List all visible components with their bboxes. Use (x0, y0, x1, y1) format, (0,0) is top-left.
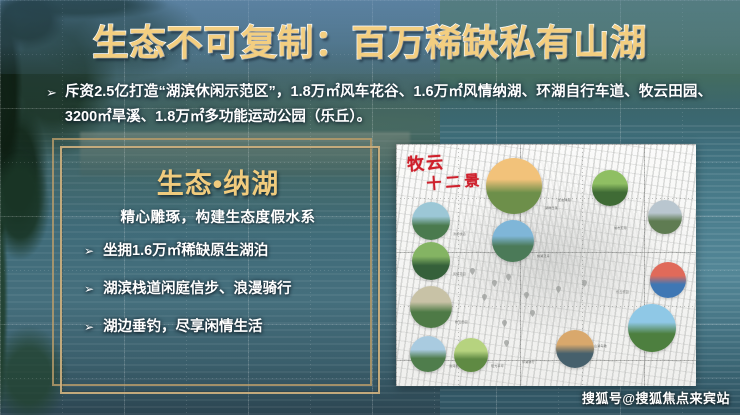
arrow-bullet-icon: ➢ (84, 280, 94, 299)
spot-waterway[interactable] (412, 202, 450, 240)
map-spot-label: 牧云田园 (455, 320, 468, 324)
map-spot-label: 纳湖泛舟 (537, 254, 550, 258)
panel-bullet-text: 湖边垂钓，尽享闲情生活 (103, 318, 263, 337)
panel-bullet-item: ➢坐拥1.6万㎡稀缺原生湖泊 (84, 242, 362, 261)
panel-bullet-list: ➢坐拥1.6万㎡稀缺原生湖泊➢湖滨栈道闲庭信步、浪漫骑行➢湖边垂钓，尽享闲情生活 (84, 242, 362, 356)
map-spot-label: 阳光草坪 (491, 364, 504, 368)
slide-root: 生态不可复制：百万稀缺私有山湖 ➢ 斥资2.5亿打造“湖滨休闲示范区”，1.8万… (0, 0, 740, 415)
site-map-card[interactable]: 牧云 十二景 湖畔日落生态绿廊滨水栈道城市天际纳湖泛舟风情花园乐丘乐园牧云田园山… (396, 144, 696, 386)
watermark: 搜狐号@搜狐焦点来宾站 (582, 388, 730, 407)
header-subtitle: ➢ 斥资2.5亿打造“湖滨休闲示范区”，1.8万㎡风车花谷、1.6万㎡风情纳湖、… (46, 80, 712, 130)
spot-garden[interactable] (412, 242, 450, 280)
panel-heading: 生态•纳湖 (62, 162, 374, 201)
map-spot-label: 滨水栈道 (453, 232, 466, 236)
arrow-bullet-icon: ➢ (84, 318, 94, 337)
spot-sunset-lake[interactable] (486, 158, 542, 214)
page-title: 生态不可复制：百万稀缺私有山湖 (0, 14, 740, 66)
panel-subheading: 精心雕琢，构建生态度假水系 (62, 206, 374, 227)
panel-bullet-text: 湖滨栈道闲庭信步、浪漫骑行 (103, 280, 292, 299)
map-spot-label: 乐丘乐园 (616, 290, 629, 294)
spot-lake-boat[interactable] (492, 220, 534, 262)
eco-lake-panel: 生态•纳湖 精心雕琢，构建生态度假水系 ➢坐拥1.6万㎡稀缺原生湖泊➢湖滨栈道闲… (62, 148, 374, 388)
map-spot-label: 湖畔日落 (545, 206, 558, 210)
spot-boardwalk[interactable] (556, 330, 594, 368)
spot-riverside[interactable] (410, 336, 446, 372)
calligraphy-line-1: 牧云 (406, 153, 445, 176)
map-spot-label: 环湖骑行 (522, 360, 535, 364)
spot-playground[interactable] (650, 262, 686, 298)
spot-village-path[interactable] (410, 286, 452, 328)
arrow-bullet-icon: ➢ (46, 80, 57, 105)
panel-bullet-item: ➢湖滨栈道闲庭信步、浪漫骑行 (84, 280, 362, 299)
map-spot-label: 山湖鸟瞰 (594, 344, 607, 348)
map-spot-label: 风情花园 (453, 272, 466, 276)
spot-skyline[interactable] (648, 200, 682, 234)
header-subtitle-text: 斥资2.5亿打造“湖滨休闲示范区”，1.8万㎡风车花谷、1.6万㎡风情纳湖、环湖… (65, 80, 712, 130)
spot-aerial-green[interactable] (628, 304, 676, 352)
arrow-bullet-icon: ➢ (84, 242, 94, 261)
spot-green-park[interactable] (592, 170, 628, 206)
spot-lawn[interactable] (454, 338, 488, 372)
map-spot-label: 生态绿廊 (558, 198, 571, 202)
map-spot-label: 城市天际 (614, 226, 627, 230)
panel-bullet-item: ➢湖边垂钓，尽享闲情生活 (84, 318, 362, 337)
panel-bullet-text: 坐拥1.6万㎡稀缺原生湖泊 (103, 242, 268, 261)
